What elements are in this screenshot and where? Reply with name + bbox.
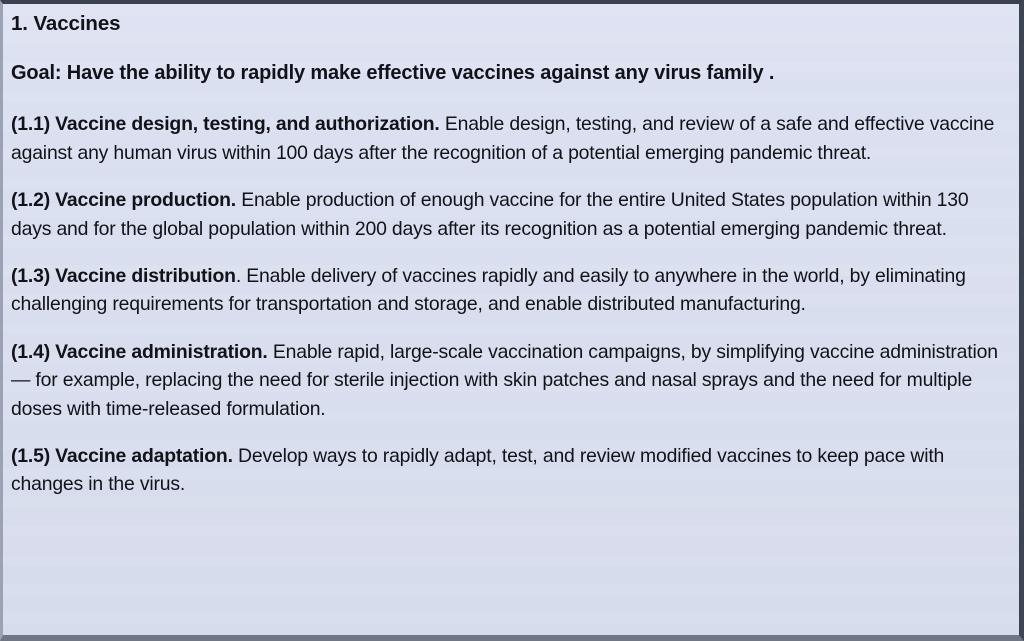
- document-page: 1. Vaccines Goal: Have the ability to ra…: [0, 0, 1024, 641]
- objective-item-1-5: (1.5) Vaccine adaptation. Develop ways t…: [11, 442, 1001, 499]
- objective-item-1-2: (1.2) Vaccine production. Enable product…: [11, 186, 1001, 243]
- page-title: 1. Vaccines: [11, 10, 1001, 37]
- objective-label-1-4: (1.4) Vaccine administration.: [11, 341, 268, 363]
- goal-statement: Goal: Have the ability to rapidly make e…: [11, 60, 1001, 86]
- objective-label-1-1: (1.1) Vaccine design, testing, and autho…: [11, 113, 440, 135]
- objective-label-1-5: (1.5) Vaccine adaptation.: [11, 445, 233, 467]
- objective-label-1-3: (1.3) Vaccine distribution: [11, 265, 236, 287]
- objective-label-1-2: (1.2) Vaccine production.: [11, 189, 236, 211]
- objective-item-1-4: (1.4) Vaccine administration. Enable rap…: [11, 338, 1001, 424]
- objective-item-1-3: (1.3) Vaccine distribution. Enable deliv…: [11, 262, 1001, 319]
- document-content: 1. Vaccines Goal: Have the ability to ra…: [3, 4, 1019, 499]
- objective-item-1-1: (1.1) Vaccine design, testing, and autho…: [11, 110, 1001, 167]
- objective-label-period-1-3: .: [236, 265, 241, 287]
